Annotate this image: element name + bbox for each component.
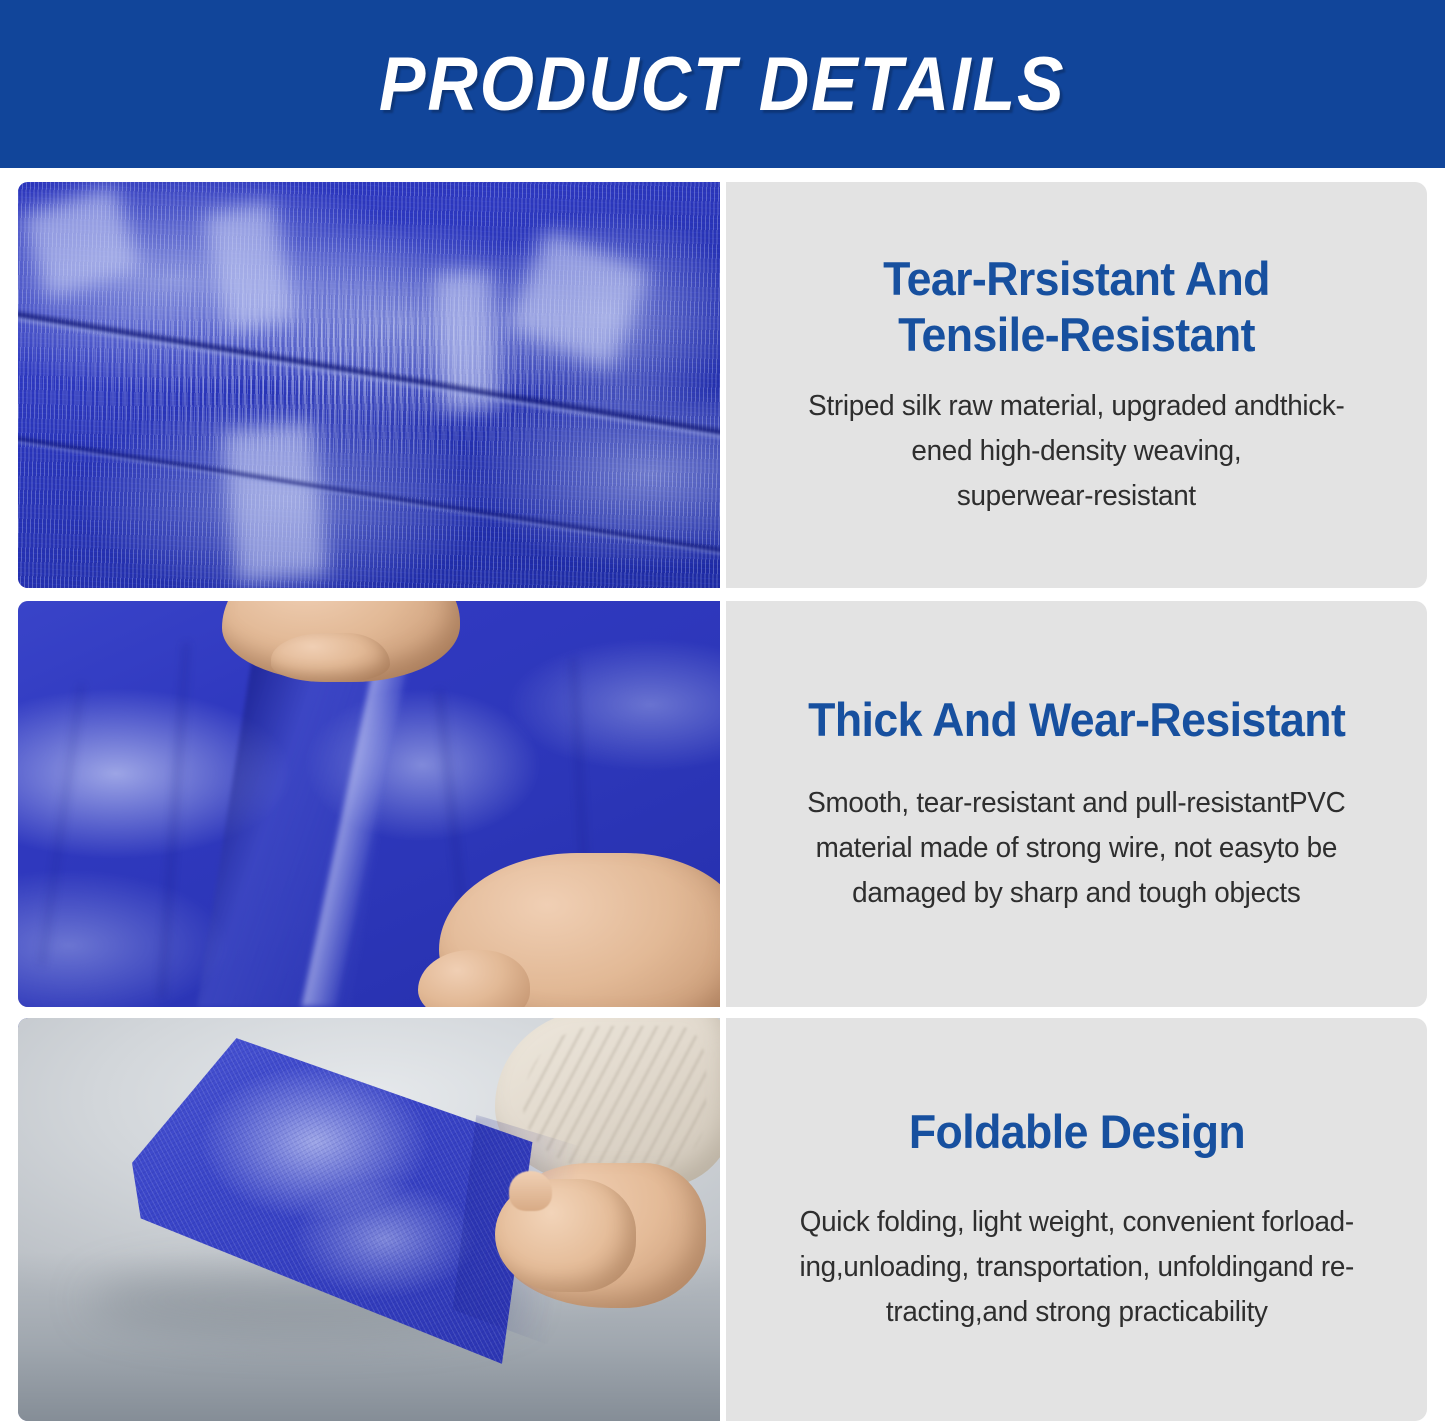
feature-text-panel-thick-wear-resistant: Thick And Wear-Resistant Smooth, tear-re… <box>726 601 1427 1007</box>
feature-description: Striped silk raw material, upgraded andt… <box>808 384 1344 519</box>
feature-section-foldable-design: Foldable Design Quick folding, light wei… <box>18 1018 1427 1421</box>
feature-description: Smooth, tear-resistant and pull-resistan… <box>807 781 1345 916</box>
product-details-banner: PRODUCT DETAILS <box>0 0 1445 168</box>
feature-image-thick-wear-resistant <box>18 601 720 1007</box>
hand-upper-fingers <box>271 633 390 682</box>
feature-image-foldable-design <box>18 1018 720 1421</box>
feature-section-tear-resistant: Tear-Rrsistant And Tensile-Resistant Str… <box>18 182 1427 588</box>
feature-heading: Tear-Rrsistant And Tensile-Resistant <box>883 251 1270 362</box>
page-title: PRODUCT DETAILS <box>379 47 1066 123</box>
feature-text-panel-foldable-design: Foldable Design Quick folding, light wei… <box>726 1018 1427 1421</box>
feature-heading: Foldable Design <box>908 1104 1244 1159</box>
tarp-gloss-highlight <box>221 421 328 584</box>
feature-description: Quick folding, light weight, convenient … <box>799 1200 1354 1335</box>
person-thumb <box>509 1171 551 1211</box>
feature-section-thick-wear-resistant: Thick And Wear-Resistant Smooth, tear-re… <box>18 601 1427 1007</box>
feature-image-tear-resistant <box>18 182 720 588</box>
feature-heading: Thick And Wear-Resistant <box>808 692 1345 747</box>
feature-text-panel-tear-resistant: Tear-Rrsistant And Tensile-Resistant Str… <box>726 182 1427 588</box>
